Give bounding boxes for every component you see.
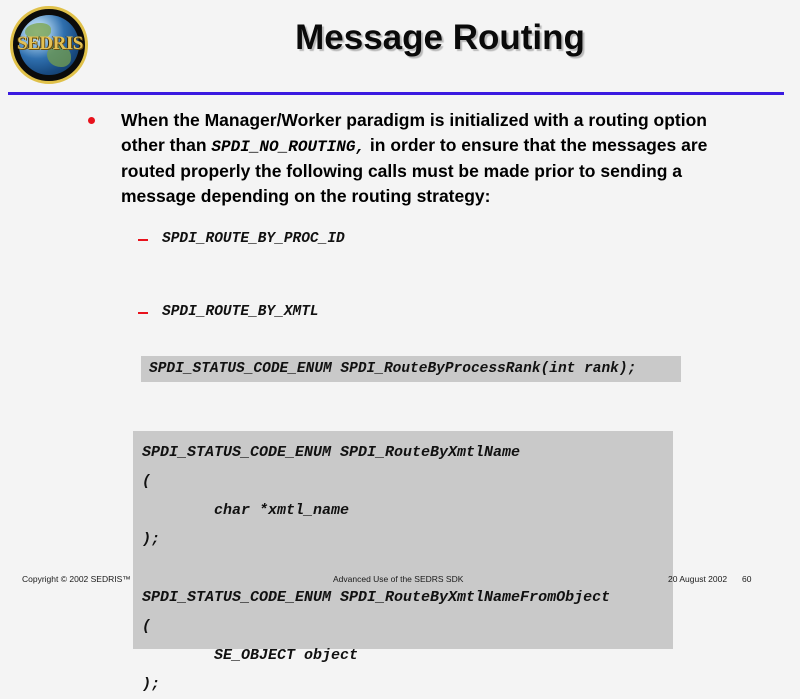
code-line: SPDI_STATUS_CODE_ENUM SPDI_RouteByXmtlNa…: [142, 438, 673, 467]
dash-marker-icon: [138, 239, 148, 241]
sub-bullet-label: SPDI_ROUTE_BY_XMTL: [162, 303, 319, 321]
sub-bullet-proc-id: SPDI_ROUTE_BY_PROC_ID: [138, 230, 345, 248]
code-line: (: [142, 612, 673, 641]
main-bullet-text: When the Manager/Worker paradigm is init…: [121, 108, 708, 208]
slide-footer: Copyright © 2002 SEDRIS™ Advanced Use of…: [0, 570, 800, 600]
bullet-dot-icon: [88, 117, 95, 124]
code-block-route-by-xmtl-name: SPDI_STATUS_CODE_ENUM SPDI_RouteByXmtlNa…: [133, 431, 673, 649]
bullet-code-term: SPDI_NO_ROUTING,: [211, 138, 365, 156]
footer-copyright: Copyright © 2002 SEDRIS™: [22, 574, 131, 584]
footer-date: 20 August 2002: [668, 574, 727, 584]
footer-deck-title: Advanced Use of the SEDRS SDK: [333, 574, 463, 584]
slide-body: When the Manager/Worker paradigm is init…: [0, 100, 800, 560]
footer-page-number: 60: [742, 574, 751, 584]
code-block-route-by-process-rank: SPDI_STATUS_CODE_ENUM SPDI_RouteByProces…: [141, 356, 681, 382]
sedris-logo: SEDRIS: [8, 6, 92, 84]
dash-marker-icon: [138, 312, 148, 314]
code-line: SE_OBJECT object: [142, 641, 673, 670]
page-title: Message Routing: [110, 18, 770, 58]
title-divider: [8, 92, 784, 95]
main-bullet: When the Manager/Worker paradigm is init…: [88, 108, 708, 208]
sub-bullet-label: SPDI_ROUTE_BY_PROC_ID: [162, 230, 345, 248]
logo-wordmark: SEDRIS: [8, 34, 92, 53]
slide-header: SEDRIS Message Routing: [0, 0, 800, 94]
code-line: );: [142, 670, 673, 699]
code-line: (: [142, 467, 673, 496]
code-line: );: [142, 525, 673, 554]
code-line: char *xmtl_name: [142, 496, 673, 525]
sub-bullet-xmtl: SPDI_ROUTE_BY_XMTL: [138, 303, 319, 321]
